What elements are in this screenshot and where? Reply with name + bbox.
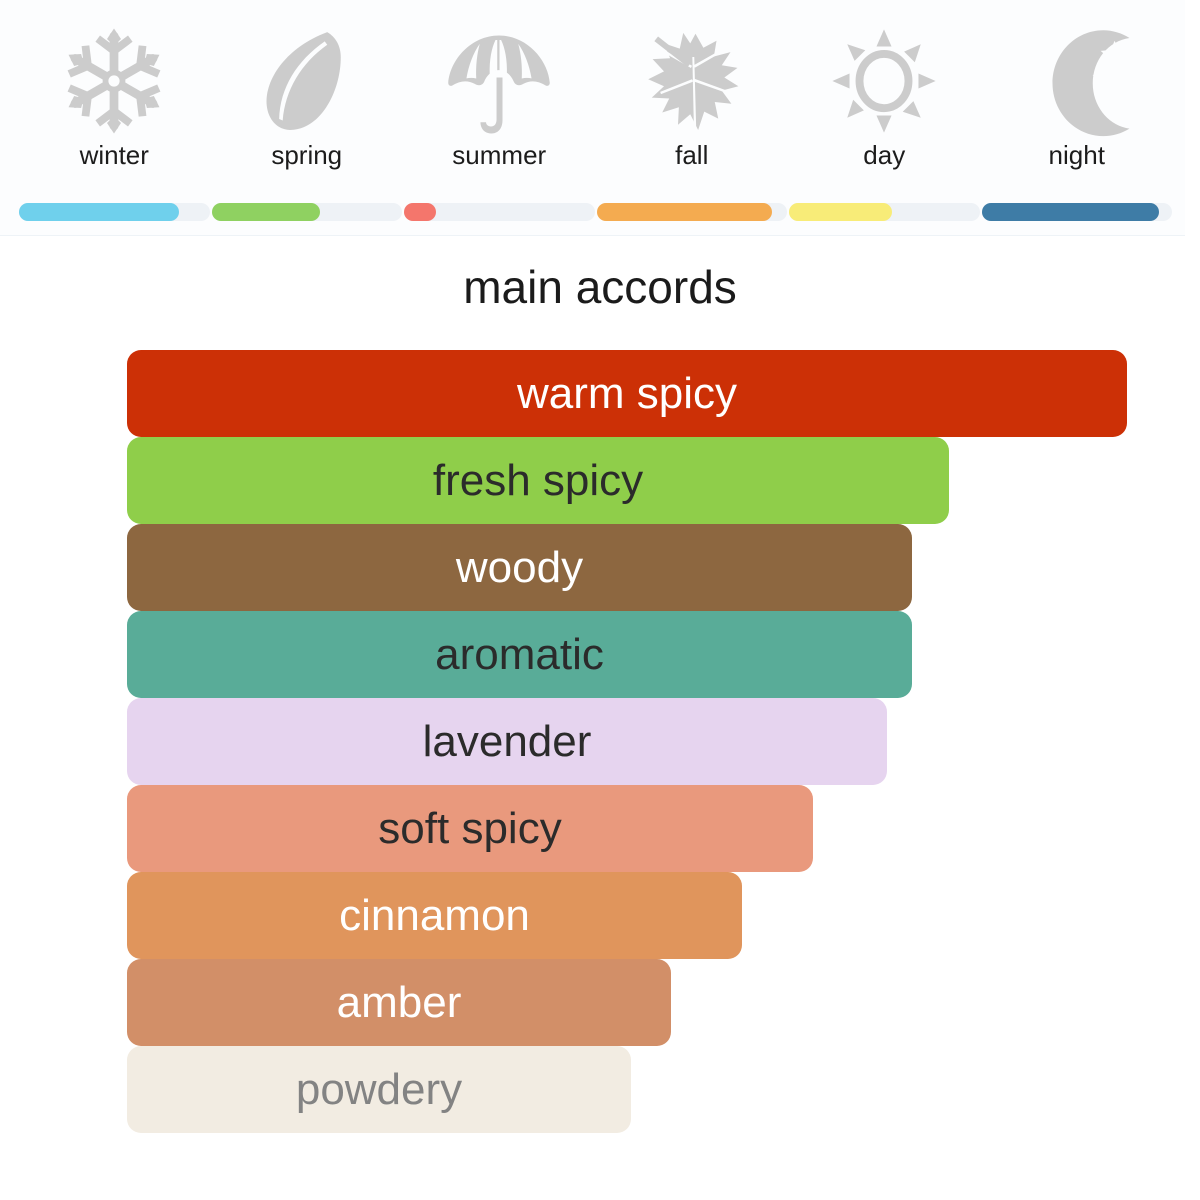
season-label: spring <box>271 142 342 168</box>
season-label: winter <box>80 142 149 168</box>
accord-bar-soft-spicy[interactable]: soft spicy <box>127 785 813 872</box>
accord-label: aromatic <box>435 633 604 677</box>
season-item-fall[interactable]: fall <box>596 22 789 197</box>
snowflake-icon <box>49 22 179 140</box>
season-bar-fill-summer <box>404 203 436 221</box>
main-accords-title: main accords <box>0 260 1200 314</box>
accord-label: amber <box>337 981 462 1025</box>
season-bar-fill-spring <box>212 203 321 221</box>
accord-label: lavender <box>423 720 592 764</box>
season-bar-track-winter[interactable] <box>19 203 210 221</box>
season-bar-fill-day <box>789 203 892 221</box>
season-item-day[interactable]: day <box>788 22 981 197</box>
season-item-summer[interactable]: summer <box>403 22 596 197</box>
accord-label: woody <box>456 546 583 590</box>
accord-label: soft spicy <box>378 807 561 851</box>
accord-bar-warm-spicy[interactable]: warm spicy <box>127 350 1127 437</box>
accord-label: cinnamon <box>339 894 530 938</box>
season-bar-row <box>18 203 1173 221</box>
season-label: night <box>1049 142 1105 168</box>
seasons-panel: winter spring <box>0 0 1185 236</box>
season-bar-fill-fall <box>597 203 772 221</box>
season-label: summer <box>452 142 546 168</box>
main-accords-section: main accords warm spicy fresh spicy wood… <box>0 236 1200 1200</box>
accord-bar-powdery[interactable]: powdery <box>127 1046 631 1133</box>
season-item-winter[interactable]: winter <box>18 22 211 197</box>
accord-label: fresh spicy <box>433 459 643 503</box>
accord-bar-woody[interactable]: woody <box>127 524 912 611</box>
season-bar-track-spring[interactable] <box>212 203 403 221</box>
accord-bar-list: warm spicy fresh spicy woody aromatic la… <box>127 350 1127 1133</box>
accord-bar-lavender[interactable]: lavender <box>127 698 887 785</box>
season-bar-fill-winter <box>19 203 179 221</box>
season-item-spring[interactable]: spring <box>211 22 404 197</box>
accord-bar-cinnamon[interactable]: cinnamon <box>127 872 742 959</box>
accord-bar-fresh-spicy[interactable]: fresh spicy <box>127 437 949 524</box>
sun-icon <box>819 22 949 140</box>
accord-bar-aromatic[interactable]: aromatic <box>127 611 912 698</box>
leaf-icon <box>242 22 372 140</box>
season-bar-track-summer[interactable] <box>404 203 595 221</box>
moon-stars-icon <box>1012 22 1142 140</box>
season-bar-track-night[interactable] <box>982 203 1173 221</box>
umbrella-icon <box>434 22 564 140</box>
accord-label: powdery <box>296 1068 462 1112</box>
season-label: fall <box>675 142 708 168</box>
season-bar-fill-night <box>982 203 1159 221</box>
accord-bar-amber[interactable]: amber <box>127 959 671 1046</box>
maple-leaf-icon <box>627 22 757 140</box>
season-icon-row: winter spring <box>18 22 1173 197</box>
season-item-night[interactable]: night <box>981 22 1174 197</box>
season-label: day <box>863 142 905 168</box>
season-bar-track-fall[interactable] <box>597 203 788 221</box>
accord-label: warm spicy <box>517 372 737 416</box>
season-bar-track-day[interactable] <box>789 203 980 221</box>
